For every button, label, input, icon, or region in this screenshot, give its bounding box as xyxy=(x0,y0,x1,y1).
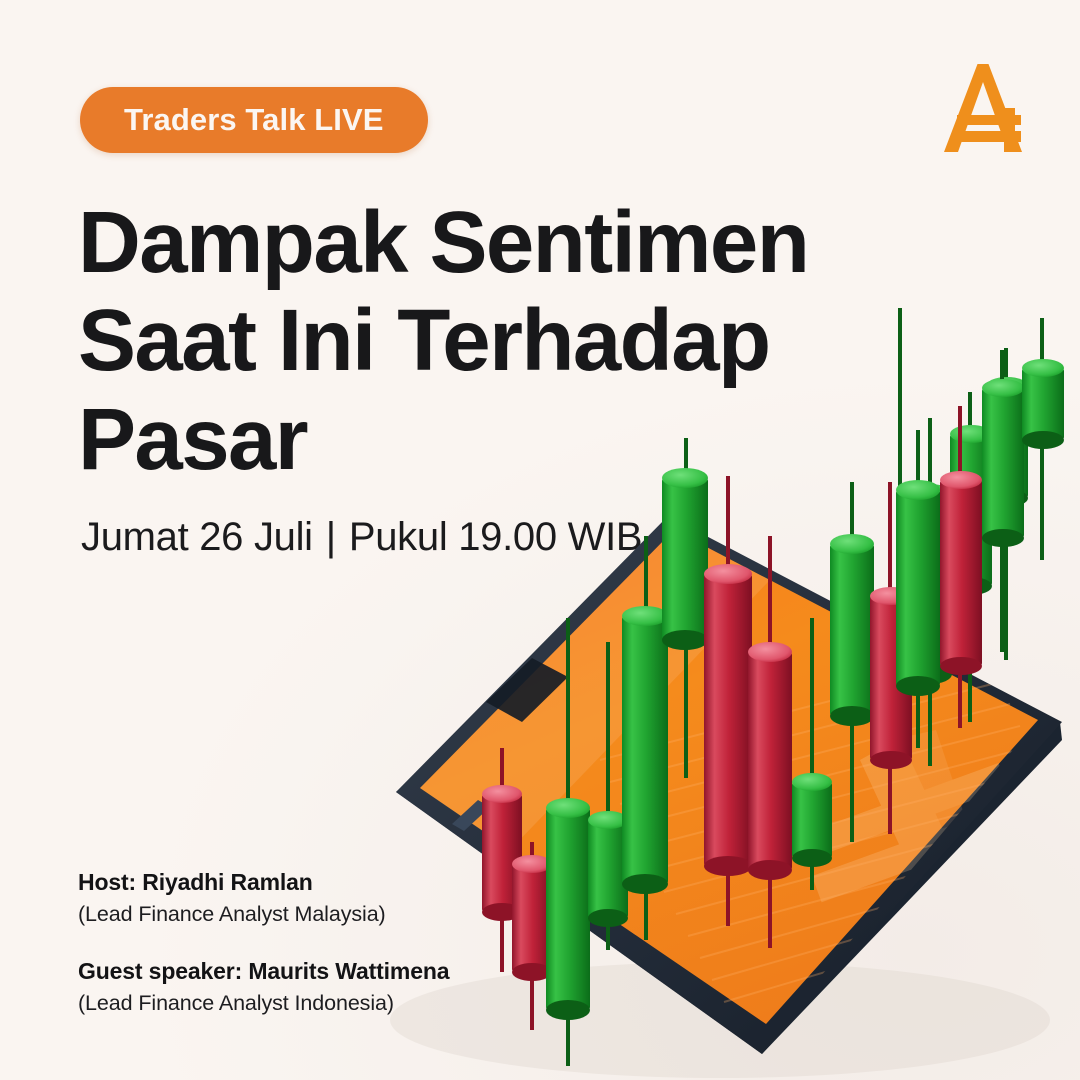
poster-canvas: Traders Talk LIVE Dampak Sentimen Saat I… xyxy=(0,0,1080,1080)
credit-host: Host: Riyadhi Ramlan (Lead Finance Analy… xyxy=(78,866,449,929)
schedule-date: Jumat 26 Juli xyxy=(81,515,313,560)
credit-guest: Guest speaker: Maurits Wattimena (Lead F… xyxy=(78,955,449,1018)
candle-peak-3 xyxy=(982,350,1024,652)
a-currency-logo-icon xyxy=(930,58,1036,158)
live-badge-label: Traders Talk LIVE xyxy=(124,102,384,138)
credit-guest-name: Guest speaker: Maurits Wattimena xyxy=(78,955,449,988)
credit-host-name: Host: Riyadhi Ramlan xyxy=(78,866,449,899)
live-badge[interactable]: Traders Talk LIVE xyxy=(80,87,428,153)
credit-host-role: (Lead Finance Analyst Malaysia) xyxy=(78,899,449,930)
credit-guest-role: (Lead Finance Analyst Indonesia) xyxy=(78,988,449,1019)
candle-peak-4 xyxy=(1022,318,1064,560)
headline-line-1: Dampak Sentimen xyxy=(78,194,818,292)
credits: Host: Riyadhi Ramlan (Lead Finance Analy… xyxy=(78,866,449,1018)
